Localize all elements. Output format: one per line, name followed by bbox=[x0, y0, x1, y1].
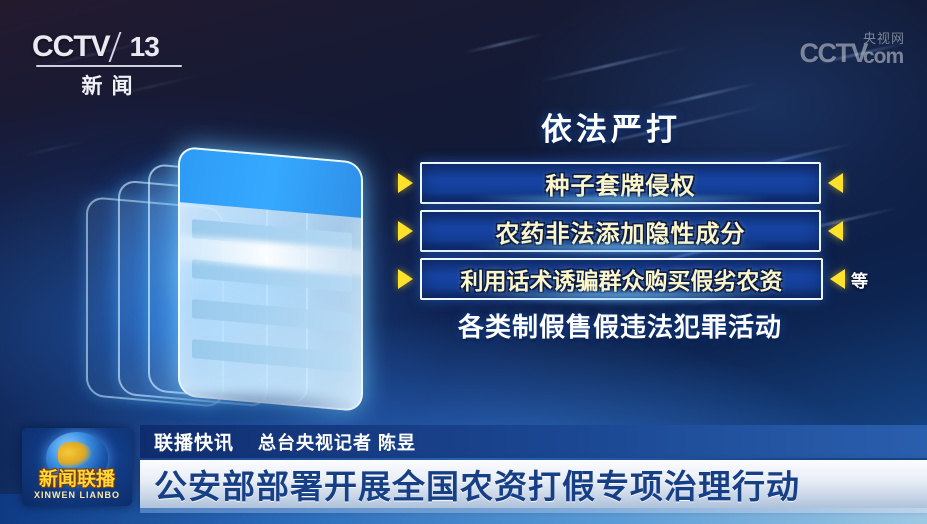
news-headline: 公安部部署开展全国农资打假专项治理行动 bbox=[154, 460, 800, 508]
list-item: 种子套牌侵权 bbox=[398, 162, 868, 204]
document-sheet-front bbox=[178, 146, 363, 412]
channel-number: 13 bbox=[130, 31, 159, 63]
triangle-left-icon bbox=[828, 221, 843, 241]
headline-bar-footer bbox=[140, 508, 927, 513]
item-label: 农药非法添加隐性成分 bbox=[496, 214, 746, 249]
list-item: 利用话术诱骗群众购买假劣农资 等 bbox=[398, 258, 868, 300]
lower-third: 新闻联播 XINWEN LIANBO 联播快讯 总台央视记者 陈昱 公安部部署开… bbox=[0, 420, 927, 524]
closing-line: 各类制假售假违法犯罪活动 bbox=[424, 307, 816, 344]
cctv-slash-icon bbox=[108, 32, 121, 62]
document-header-band bbox=[180, 148, 361, 218]
program-logo-en: XINWEN LIANBO bbox=[34, 490, 120, 500]
channel-bug-subtitle: 新闻 bbox=[32, 70, 182, 100]
page-title: 依法严打 bbox=[420, 104, 802, 149]
item-label: 种子套牌侵权 bbox=[546, 166, 696, 201]
watermark-sub: 央视网 com bbox=[863, 28, 905, 69]
item-suffix: 等 bbox=[851, 267, 868, 292]
channel-bug: CCTV 13 新闻 bbox=[32, 30, 182, 100]
channel-bug-row: CCTV 13 bbox=[32, 30, 182, 64]
triangle-right-icon bbox=[398, 173, 413, 193]
triangle-right-icon bbox=[398, 269, 413, 289]
list-item: 农药非法添加隐性成分 bbox=[398, 210, 868, 252]
triangle-right-icon bbox=[398, 221, 413, 241]
item-list: 种子套牌侵权 农药非法添加隐性成分 利用话术诱骗群众购买假劣农资 等 bbox=[398, 162, 868, 300]
program-logo: 新闻联播 XINWEN LIANBO bbox=[22, 428, 132, 506]
headline-block: 依法严打 种子套牌侵权 农药非法添加隐性成分 bbox=[398, 104, 868, 344]
document-text-line bbox=[192, 339, 352, 372]
stacked-document-graphic bbox=[78, 140, 378, 415]
item-box: 利用话术诱骗群众购买假劣农资 bbox=[420, 258, 823, 300]
broadcast-screen: CCTV 13 新闻 CCTV 央视网 com 依法严打 bbox=[0, 0, 927, 524]
item-box: 农药非法添加隐性成分 bbox=[420, 210, 821, 252]
triangle-left-icon bbox=[830, 269, 845, 289]
triangle-left-icon bbox=[828, 173, 843, 193]
cctv-wordmark: CCTV bbox=[32, 30, 110, 64]
watermark-com: com bbox=[863, 45, 905, 69]
item-box: 种子套牌侵权 bbox=[420, 162, 821, 204]
channel-bug-underline bbox=[36, 65, 182, 67]
kicker-label: 联播快讯 bbox=[154, 428, 234, 455]
cctv-com-watermark: CCTV 央视网 com bbox=[799, 28, 905, 69]
item-label: 利用话术诱骗群众购买假劣农资 bbox=[461, 262, 783, 296]
headline-bar: 公安部部署开展全国农资打假专项治理行动 bbox=[140, 460, 927, 508]
document-text-line bbox=[192, 299, 352, 332]
reporter-credit: 总台央视记者 陈昱 bbox=[258, 429, 416, 455]
watermark-brand: CCTV bbox=[799, 38, 867, 69]
kicker-bar: 联播快讯 总台央视记者 陈昱 bbox=[140, 425, 927, 458]
program-logo-zh: 新闻联播 bbox=[39, 470, 115, 489]
